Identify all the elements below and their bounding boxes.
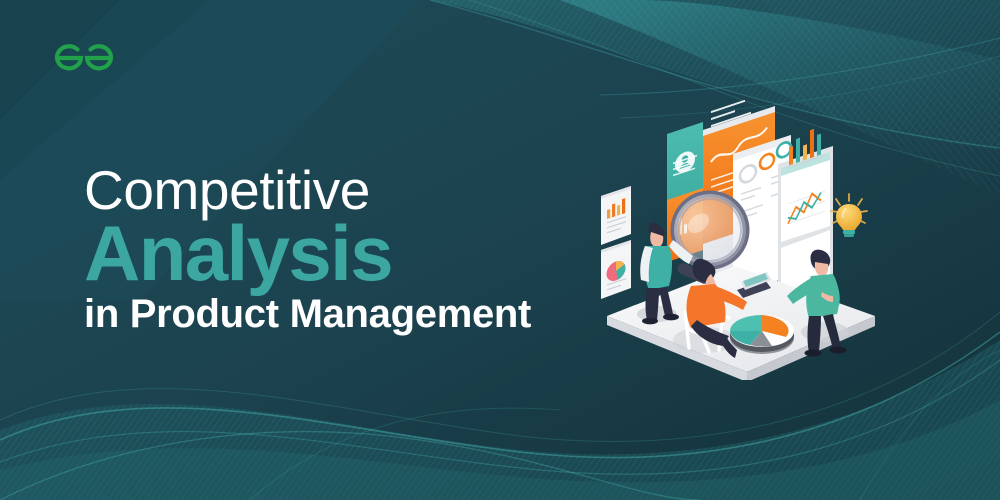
title-line-2: Analysis: [84, 214, 531, 292]
card-bar-chart: [601, 186, 631, 245]
card-pie-chart: [601, 240, 631, 299]
lightbulb: [831, 194, 867, 237]
pie-chart-3d: [730, 315, 794, 354]
page-title: Competitive Analysis in Product Manageme…: [84, 163, 531, 334]
title-line-3: in Product Management: [84, 294, 531, 334]
geeksforgeeks-logo[interactable]: [46, 36, 122, 80]
banner-graphic: Competitive Analysis in Product Manageme…: [0, 0, 1000, 500]
isometric-business-analytics-scene: [585, 100, 885, 380]
